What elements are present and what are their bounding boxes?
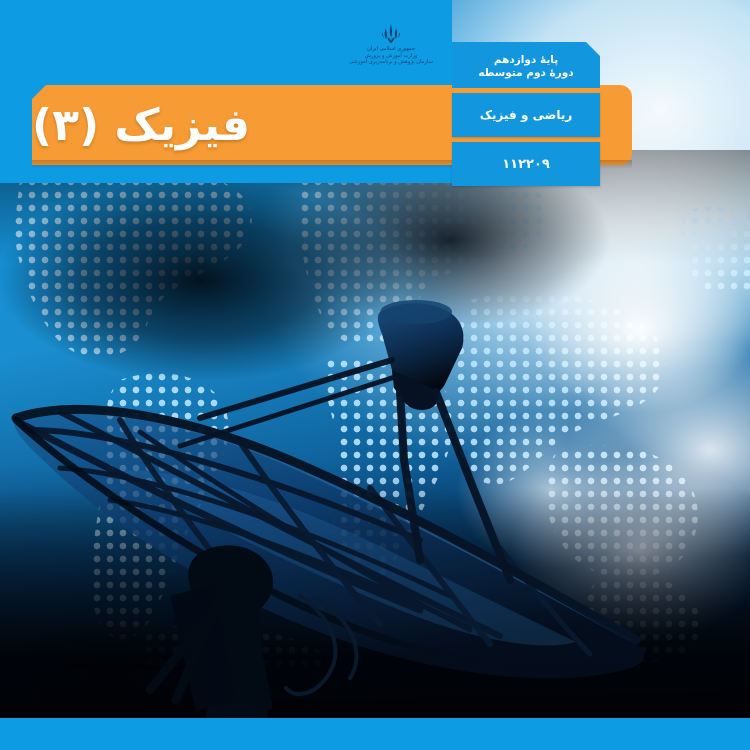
- info-box-field: ریاضی و فیزیک: [452, 93, 600, 137]
- field-label: ریاضی و فیزیک: [480, 108, 572, 122]
- bottom-color-strip: [0, 718, 750, 750]
- grade-line2: دورهٔ دوم متوسطه: [478, 67, 573, 80]
- logo-caption-line1: جمهوری اسلامی ایران: [349, 47, 433, 53]
- grade-line1: پایهٔ دوازدهم: [494, 54, 558, 67]
- ministry-logo: جمهوری اسلامی ایران وزارت آموزش و پرورش …: [349, 22, 433, 82]
- iran-emblem-icon: [378, 22, 404, 46]
- info-box-book-code: ۱۱۲۲۰۹: [452, 142, 600, 186]
- book-cover: جمهوری اسلامی ایران وزارت آموزش و پرورش …: [0, 0, 750, 750]
- logo-caption-line3: سازمان پژوهش و برنامه‌ریزی آموزشی: [349, 60, 433, 66]
- info-box-stack: پایهٔ دوازدهم دورهٔ دوم متوسطه ریاضی و ف…: [452, 42, 600, 186]
- book-code-label: ۱۱۲۲۰۹: [502, 157, 550, 172]
- info-box-grade: پایهٔ دوازدهم دورهٔ دوم متوسطه: [452, 42, 600, 88]
